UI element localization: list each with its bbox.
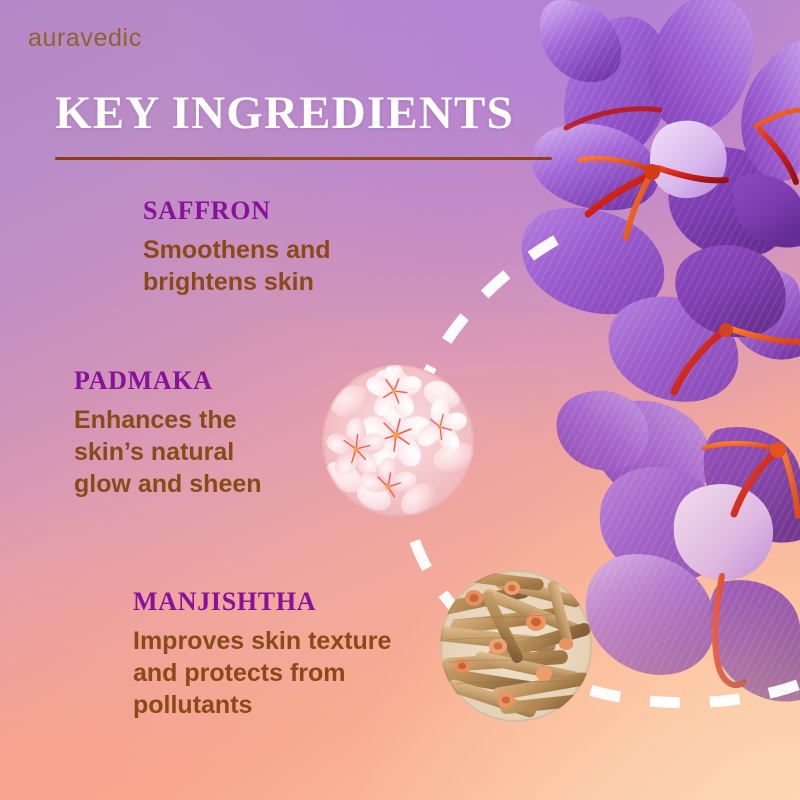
ingredient-description-saffron: Smoothens and brightens skin xyxy=(143,235,331,299)
ingredient-name-saffron: SAFFRON xyxy=(143,198,331,224)
poster-canvas: auravedic KEY INGREDIENTS SAFFRON Smooth… xyxy=(0,0,800,800)
title-underline-rule xyxy=(55,157,552,160)
brand-logo-text: auravedic xyxy=(28,24,142,52)
manjishtha-root-photo xyxy=(440,570,592,722)
ingredient-block-manjishtha: MANJISHTHA Improves skin texture and pro… xyxy=(133,589,391,721)
ingredient-description-padmaka: Enhances the skin’s natural glow and she… xyxy=(74,405,262,500)
brand-logo[interactable]: auravedic xyxy=(28,26,142,51)
ingredient-name-padmaka: PADMAKA xyxy=(74,368,262,394)
ingredient-block-padmaka: PADMAKA Enhances the skin’s natural glow… xyxy=(74,368,262,500)
padmaka-blossom-photo xyxy=(322,365,474,517)
ingredient-name-manjishtha: MANJISHTHA xyxy=(133,589,391,615)
page-title: KEY INGREDIENTS xyxy=(55,90,514,137)
ingredient-block-saffron: SAFFRON Smoothens and brightens skin xyxy=(143,198,331,299)
ingredient-description-manjishtha: Improves skin texture and protects from … xyxy=(133,626,391,721)
